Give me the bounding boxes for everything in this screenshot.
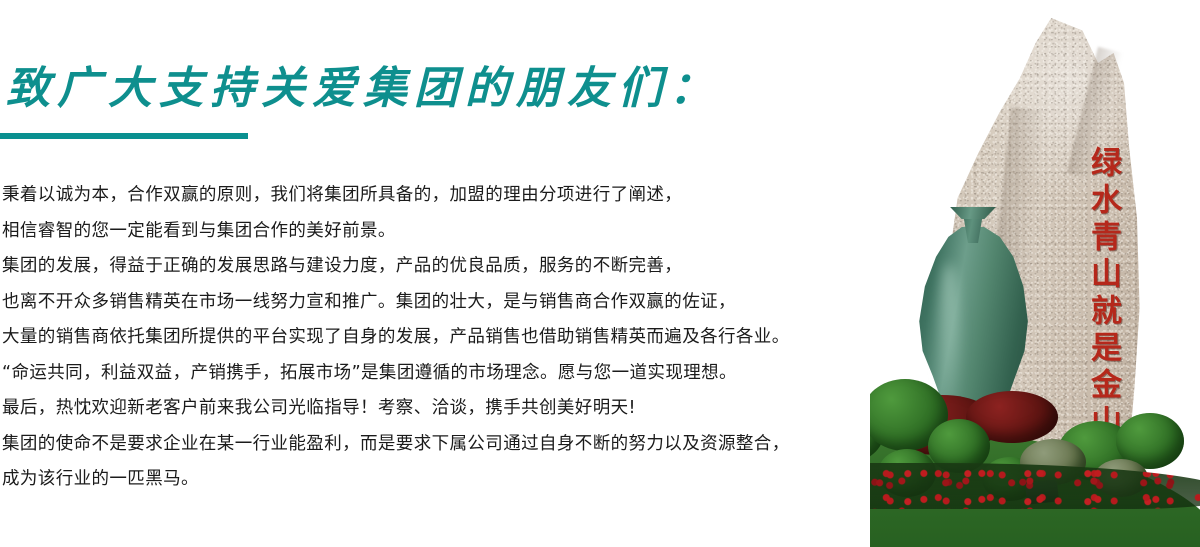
letter-line: 大量的销售商依托集团所提供的平台实现了自身的发展，产品销售也借助销售精英而遍及各… [2, 320, 882, 356]
stone-texture [890, 18, 1150, 518]
lawn [870, 417, 1200, 547]
stone-monument: 绿水青山就是金山银山 [890, 18, 1150, 518]
letter-content: 致广大支持关爱集团的朋友们： 秉着以诚为本，合作双赢的原则，我们将集团所具备的，… [0, 0, 900, 547]
vase-lip [947, 207, 999, 219]
red-shrub [966, 391, 1058, 443]
title-underline [0, 133, 248, 139]
letter-body: 秉着以诚为本，合作双赢的原则，我们将集团所具备的，加盟的理由分项进行了阐述， 相… [2, 178, 882, 498]
letter-line: 集团的发展，得益于正确的发展思路与建设力度，产品的优良品质，服务的不断完善， [2, 249, 882, 285]
stone-facet [954, 255, 1030, 431]
page-title: 致广大支持关爱集团的朋友们： [6, 52, 720, 116]
green-shrub [1058, 421, 1136, 481]
stone-facet [1067, 47, 1124, 179]
stone-body [890, 18, 1150, 518]
green-shrub [928, 419, 990, 473]
vase-body [917, 227, 1029, 475]
green-shrub [982, 457, 1038, 501]
stone-inscription: 绿水青山就是金山银山 [1073, 146, 1119, 516]
letter-line: 相信睿智的您一定能看到与集团合作的美好前景。 [2, 214, 882, 250]
green-vase [917, 205, 1029, 475]
ornamental-grass [1094, 459, 1148, 497]
ornamental-grass [1020, 439, 1086, 485]
garden-light [1025, 479, 1059, 504]
letter-line: 集团的使命不是要求企业在某一行业能盈利，而是要求下属公司通过自身不断的努力以及资… [2, 427, 882, 463]
vase-highlight [939, 263, 959, 413]
letter-line: 也离不开众多销售精英在市场一线努力宣和推广。集团的壮大，是与销售商合作双赢的佐证… [2, 285, 882, 321]
vase-neck [955, 213, 991, 243]
green-shrub [1116, 413, 1184, 469]
letter-line: 秉着以诚为本，合作双赢的原则，我们将集团所具备的，加盟的理由分项进行了阐述， [2, 178, 882, 214]
scenery-photo: 绿水青山就是金山银山 [870, 0, 1200, 547]
letter-line: “命运共同，利益双益，产销携手，拓展市场”是集团遵循的市场理念。愿与您一道实现理… [2, 356, 882, 392]
letter-line: 成为该行业的一匹黑马。 [2, 462, 882, 498]
page-root: 绿水青山就是金山银山 致广大支持关爱集团的朋友们： 秉着以诚为本，合作双赢的原则… [0, 0, 1200, 547]
letter-line: 最后，热忱欢迎新老客户前来我公司光临指导！考察、洽谈，携手共创美好明天! [2, 391, 882, 427]
stone-facet [987, 107, 1047, 340]
flower-bed [870, 463, 1200, 509]
